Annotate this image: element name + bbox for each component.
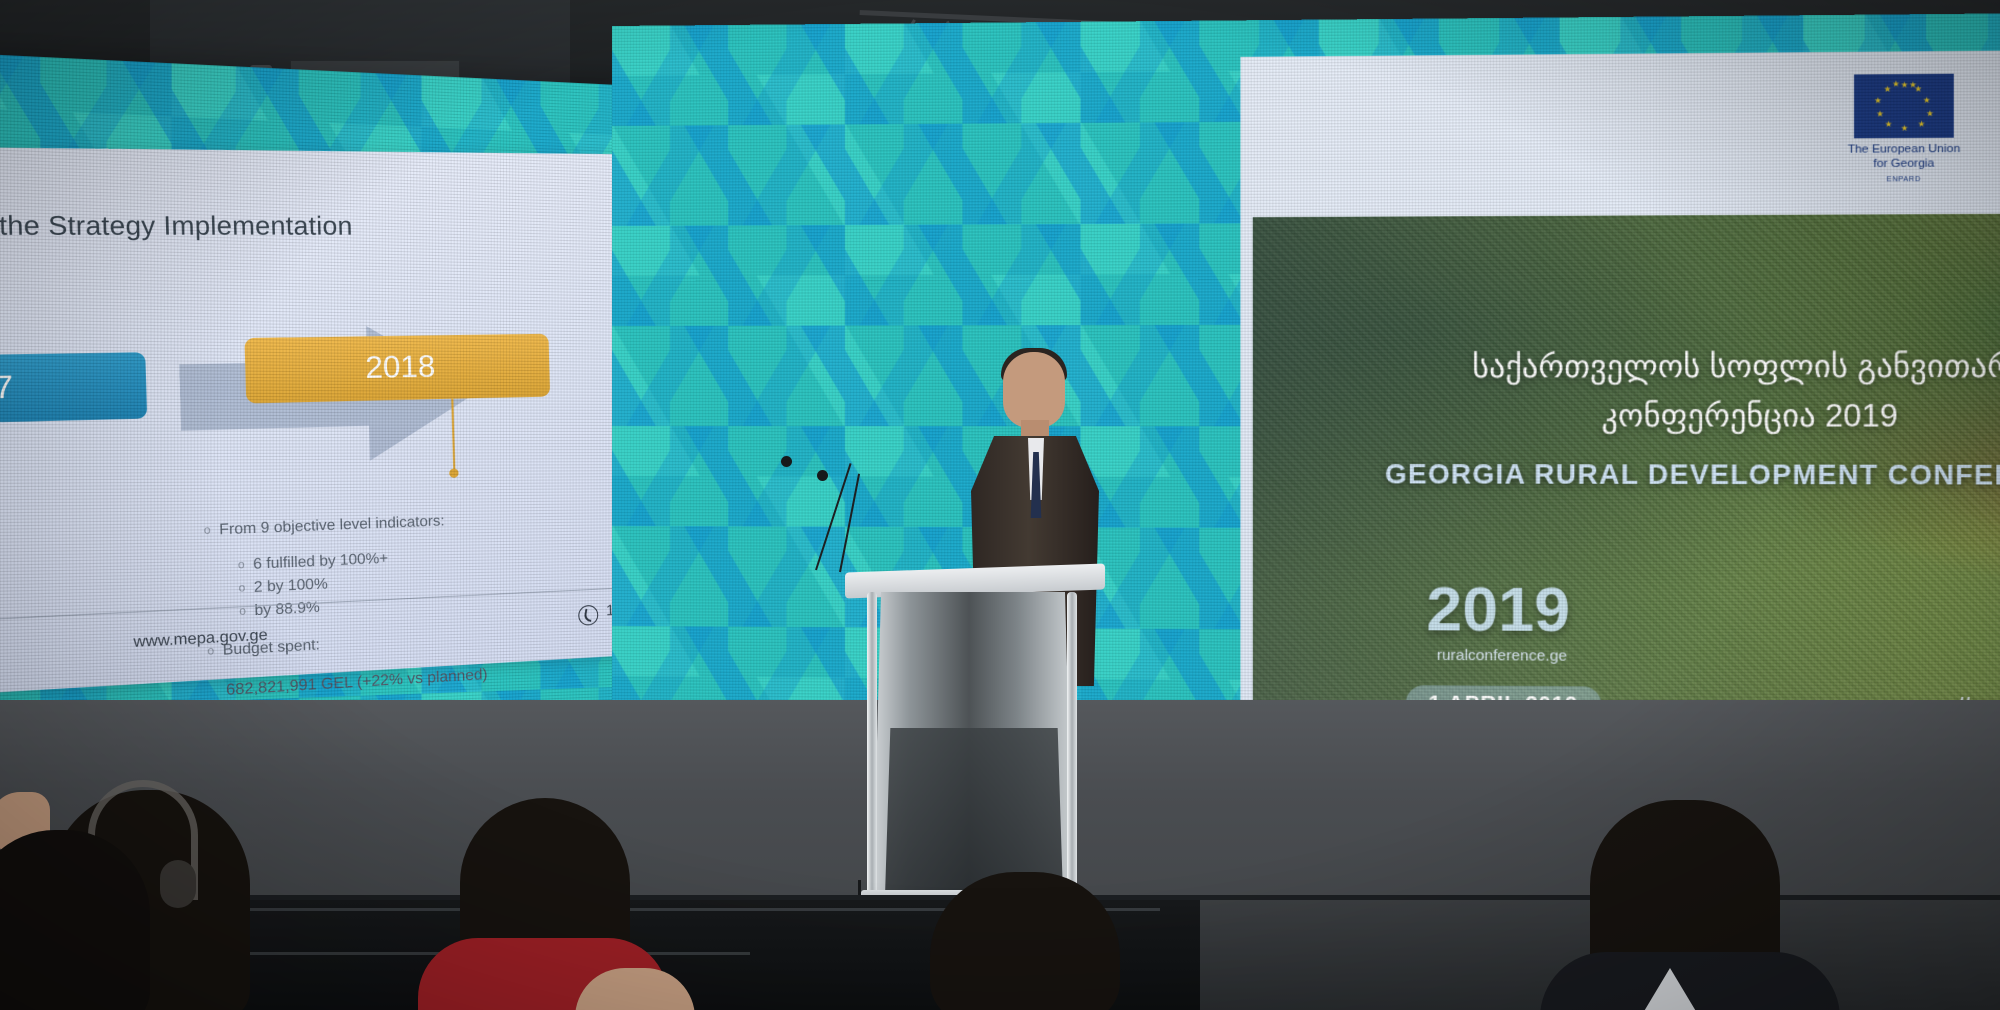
year-chip-2018: 2018 xyxy=(244,334,550,404)
audience-person-2 xyxy=(0,830,150,1010)
podium xyxy=(845,568,1105,928)
led-wall-right: ★ ★ ★ ★ ★ ★ ★ ★ ★ ★ ★ ★ The Europe xyxy=(612,13,2000,799)
right-column-heading-list: From 9 objective level indicators: xyxy=(204,503,622,542)
slide-title: ults of the Strategy Implementation xyxy=(0,211,353,243)
right-column-list: 6 fulfilled by 100%+ 2 by 100% by 88.9% xyxy=(238,537,624,623)
conference-website: ruralconference.ge xyxy=(1437,647,1567,665)
conference-photo-scene: ults of the Strategy Implementation 2017… xyxy=(0,0,2000,1010)
year-2018-label: 2018 xyxy=(365,350,436,386)
eu-caption-line1: The European Union xyxy=(1824,142,1983,157)
budget-label: Budget spent: xyxy=(207,617,625,663)
logo-bar: ★ ★ ★ ★ ★ ★ ★ ★ ★ ★ ★ ★ The Europe xyxy=(1240,45,2000,211)
year-watermark: 2019 xyxy=(1426,573,1570,646)
eu-caption-line3: ENPARD xyxy=(1824,173,1983,188)
headphone-earcup xyxy=(160,860,196,908)
right-column: From 9 objective level indicators: 6 ful… xyxy=(204,503,626,703)
conference-title-en: GEORGIA RURAL DEVELOPMENT CONFERENCE 201… xyxy=(1385,459,2000,492)
eu-caption-line2: for Georgia xyxy=(1824,156,1983,171)
presentation-slide-left: ults of the Strategy Implementation 2017… xyxy=(0,146,640,702)
left-column-heading: r level indicators: xyxy=(0,524,193,563)
podium-lower-panel xyxy=(885,728,1063,896)
audience-person-5 xyxy=(930,872,1120,1010)
microphone-head-1 xyxy=(781,456,792,467)
eu-flag-icon: ★ ★ ★ ★ ★ ★ ★ ★ ★ ★ ★ ★ xyxy=(1854,74,1954,139)
podium-rail-right xyxy=(1067,592,1077,894)
conference-title-ka-line1: საქართველოს სოფლის განვითარების xyxy=(1472,348,2000,386)
microphone-head-2 xyxy=(817,470,828,481)
podium-rail-left xyxy=(867,592,877,894)
autumn-forest-photo: საქართველოს სოფლის განვითარების კონფერენ… xyxy=(1253,211,2000,736)
budget-label-list: Budget spent: xyxy=(207,617,625,663)
european-union-logo: ★ ★ ★ ★ ★ ★ ★ ★ ★ ★ ★ ★ The Europe xyxy=(1824,73,1983,187)
presentation-slide-right: ★ ★ ★ ★ ★ ★ ★ ★ ★ ★ ★ ★ The Europe xyxy=(1240,45,2000,799)
conference-title-ka-line2: კონფერენცია 2019 xyxy=(1601,398,1897,435)
year-2017-label: 2017 xyxy=(0,370,14,409)
speaker-head xyxy=(1003,352,1065,428)
right-column-heading: From 9 objective level indicators: xyxy=(204,503,622,542)
audience-person-6-shoulders xyxy=(1540,952,1840,1010)
year-chip-2017: 2017 xyxy=(0,352,147,427)
